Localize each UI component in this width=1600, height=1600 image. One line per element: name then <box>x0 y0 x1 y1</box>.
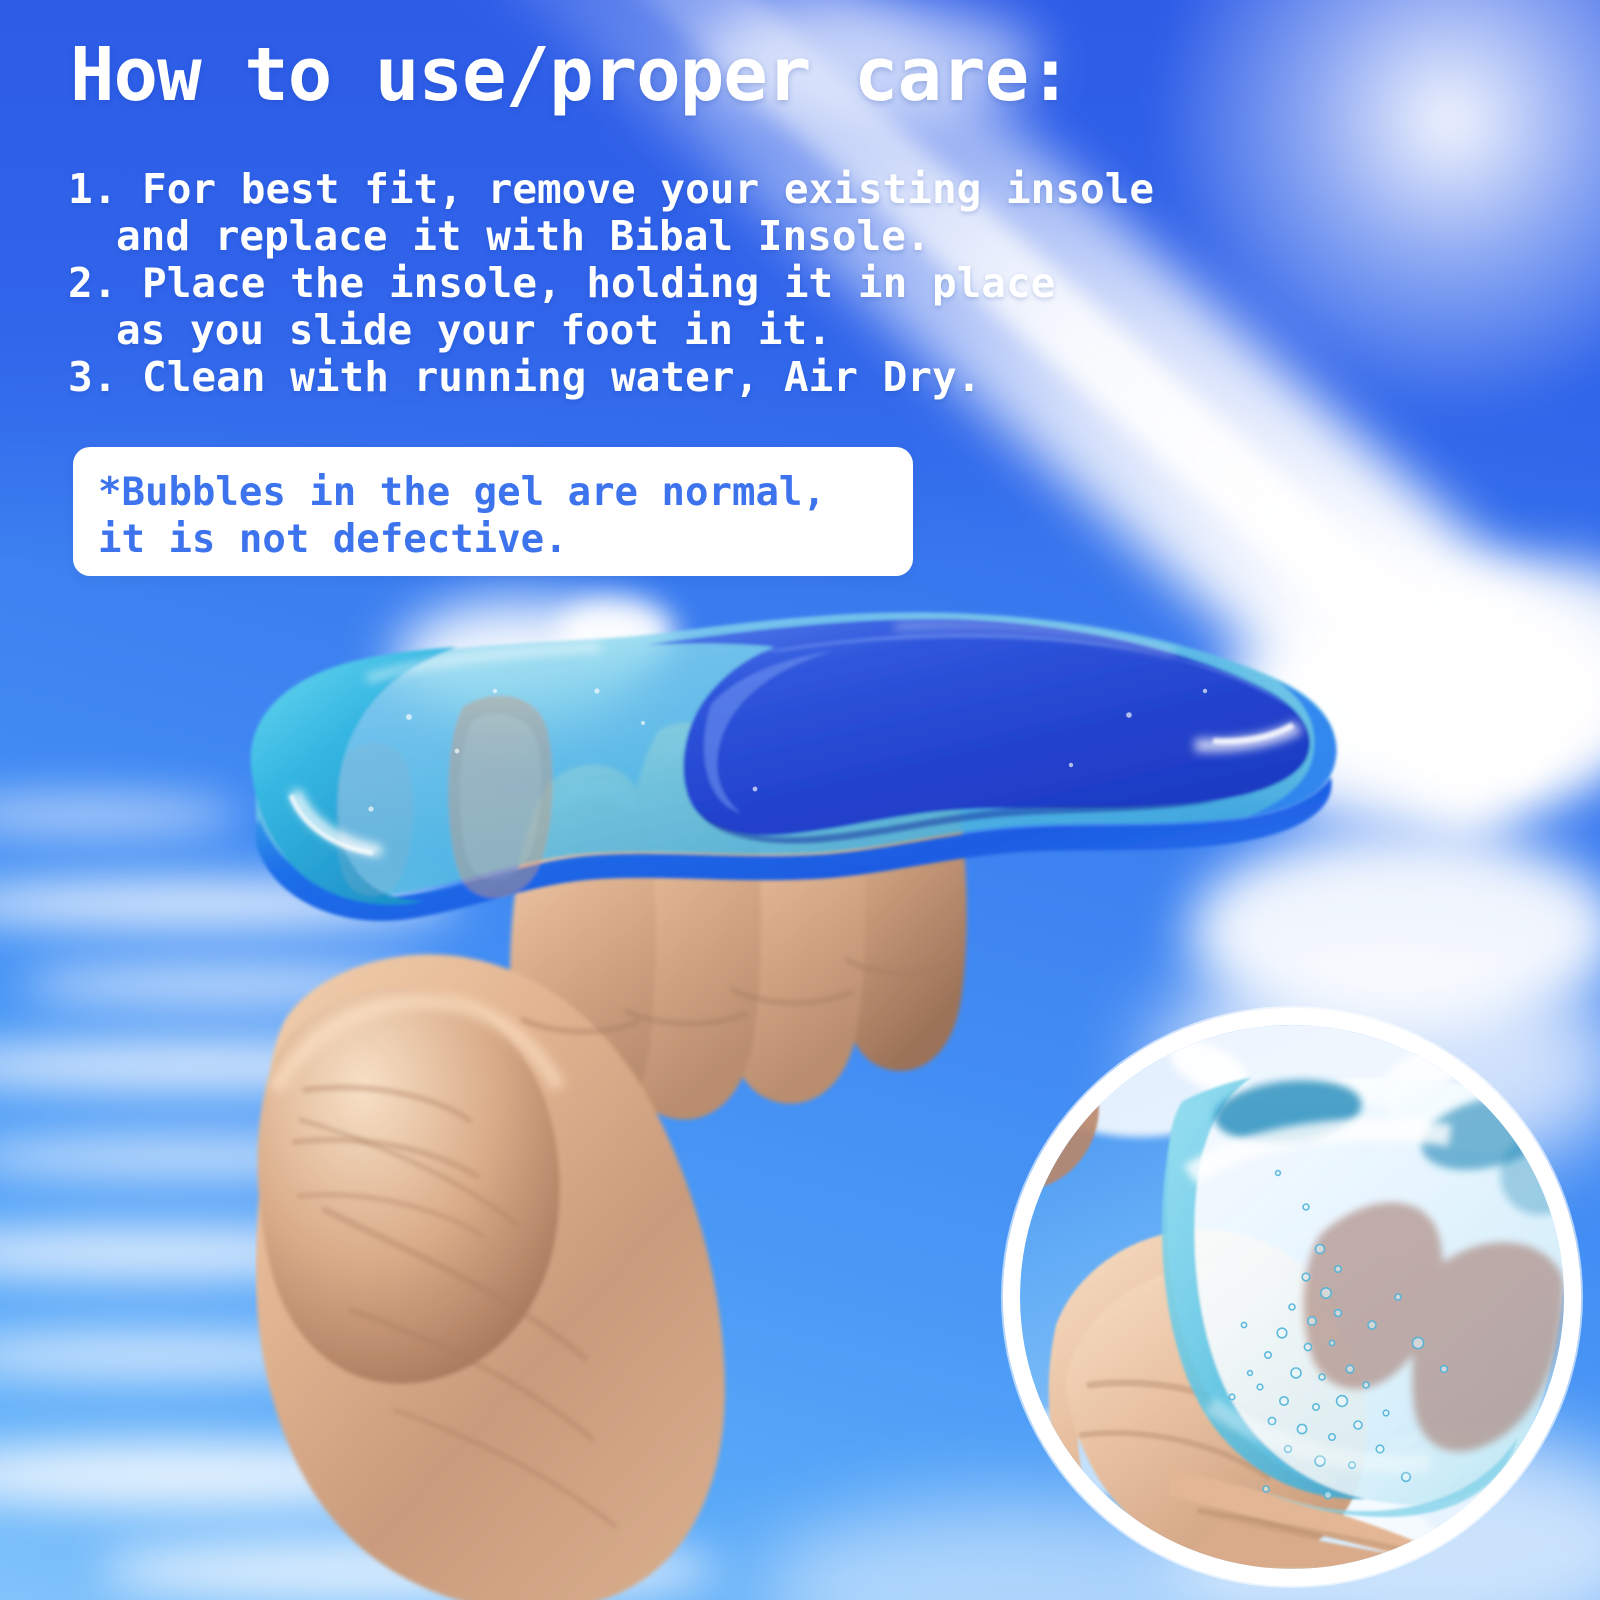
cloud-right-small <box>1400 690 1550 780</box>
instruction-2-line-2: as you slide your foot in it. <box>68 307 1154 354</box>
bubbles-note-line-2: it is not defective. <box>98 516 826 563</box>
gel-insole-product <box>195 595 1355 925</box>
instructions-list: 1. For best fit, remove your existing in… <box>68 166 1154 401</box>
bubble-detail-inset <box>1003 1008 1581 1586</box>
instruction-3-line-1: 3. Clean with running water, Air Dry. <box>68 354 1154 401</box>
instruction-2-line-1: 2. Place the insole, holding it in place <box>68 260 1154 307</box>
bubbles-note-text: *Bubbles in the gel are normal,it is not… <box>98 469 826 563</box>
instruction-1-line-2: and replace it with Bibal Insole. <box>68 213 1154 260</box>
inset-photo <box>1020 1025 1564 1569</box>
instruction-1-line-1: 1. For best fit, remove your existing in… <box>68 166 1154 213</box>
infographic-page: How to use/proper care: 1. For best fit,… <box>0 0 1600 1600</box>
bubbles-note-callout: *Bubbles in the gel are normal,it is not… <box>73 447 913 576</box>
page-title: How to use/proper care: <box>70 38 1072 112</box>
bubbles-note-line-1: *Bubbles in the gel are normal, <box>98 469 826 516</box>
